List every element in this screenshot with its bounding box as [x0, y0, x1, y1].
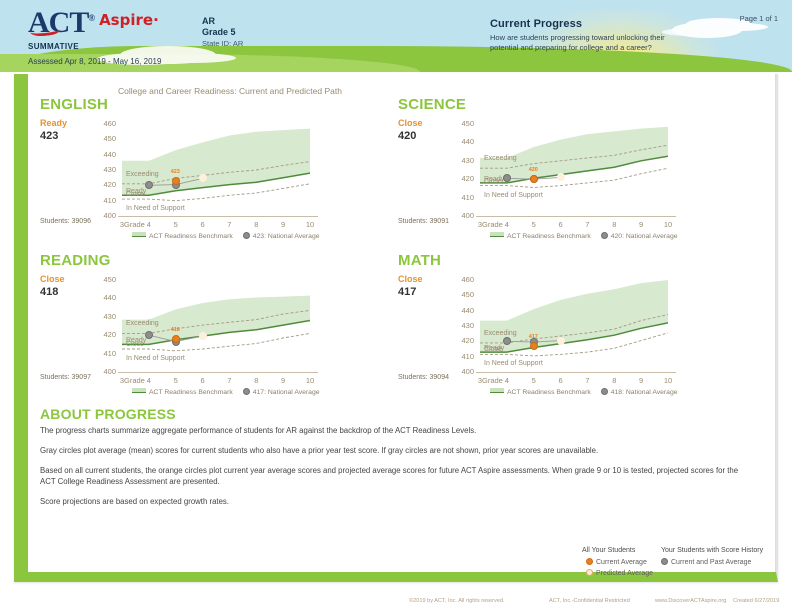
plot-area-math: ExceedingReadyCloseIn Need of Support417 [480, 280, 668, 372]
about-paragraph-1: The progress charts summarize aggregate … [40, 426, 740, 437]
orange-dot-icon [586, 558, 593, 565]
cloud-icon [672, 22, 742, 38]
band-label-in-need-of-support-science: In Need of Support [484, 192, 543, 199]
band-label-in-need-of-support-reading: In Need of Support [126, 355, 185, 362]
band-label-in-need-of-support-math: In Need of Support [484, 360, 543, 367]
x-tick-3-reading: 3 [117, 376, 127, 385]
y-tick-430-reading: 430 [94, 312, 116, 321]
plot-area-science: ExceedingReadyCloseIn Need of Support420 [480, 124, 668, 216]
benchmark-swatch-icon [132, 232, 146, 237]
x-axis-line-reading [118, 372, 318, 373]
marker-value-label-science: 420 [529, 167, 538, 173]
org-info: AR Grade 5 State ID: AR [202, 16, 243, 49]
chart-legend-math: ACT Readiness Benchmark418: National Ave… [490, 388, 678, 396]
x-tick-7-science: 7 [582, 220, 592, 229]
x-axis-line-math [476, 372, 676, 373]
chart-panel-science: SCIENCEClose420Students: 39091ExceedingR… [398, 96, 698, 246]
score-value-reading: 418 [40, 286, 58, 298]
y-tick-400-english: 400 [94, 211, 116, 220]
legend-current-average: Current Average [586, 558, 647, 566]
act-aspire-logo: ACT®Aspire· [28, 8, 159, 38]
legend-national-average-label-reading: 417: National Average [253, 389, 320, 396]
marker-current-avg-reading [172, 335, 180, 343]
x-tick-5-math: 5 [529, 376, 539, 385]
y-tick-430-science: 430 [452, 156, 474, 165]
about-progress-heading: ABOUT PROGRESS [40, 406, 176, 422]
benchmark-swatch-icon [490, 388, 504, 393]
x-tick-8-english: 8 [251, 220, 261, 229]
marker-predicted-avg-science [557, 173, 565, 181]
legend-current-and-past-average: Current and Past Average [661, 558, 751, 566]
x-tick-4-science: 4 [502, 220, 512, 229]
plot-area-english: ExceedingReadyCloseIn Need of Support423 [122, 124, 310, 216]
sheet-title: College and Career Readiness: Current an… [118, 86, 342, 96]
open-circle-icon [586, 569, 593, 576]
y-tick-400-science: 400 [452, 211, 474, 220]
chart-legend-reading: ACT Readiness Benchmark417: National Ave… [132, 388, 320, 396]
band-label-exceeding-reading: Exceeding [126, 320, 159, 327]
y-tick-420-science: 420 [452, 174, 474, 183]
x-axis-line-science [476, 216, 676, 217]
score-value-math: 417 [398, 286, 416, 298]
national-average-icon [601, 388, 608, 395]
x-tick-10-math: 10 [663, 376, 673, 385]
legend-national-average-label-science: 420: National Average [611, 233, 678, 240]
band-label-close-science: Close [484, 178, 502, 185]
x-tick-9-english: 9 [278, 220, 288, 229]
national-average-icon [243, 388, 250, 395]
marker-current-avg-math [530, 342, 538, 350]
y-tick-430-math: 430 [452, 321, 474, 330]
legend-benchmark-label-science: ACT Readiness Benchmark [507, 233, 591, 240]
x-tick-10-science: 10 [663, 220, 673, 229]
x-tick-8-science: 8 [609, 220, 619, 229]
legend-benchmark-label-math: ACT Readiness Benchmark [507, 389, 591, 396]
plot-area-reading: ExceedingReadyCloseIn Need of Support418 [122, 280, 310, 372]
org-name: AR [202, 16, 243, 27]
chart-legend-english: ACT Readiness Benchmark423: National Ave… [132, 232, 320, 240]
y-tick-410-science: 410 [452, 193, 474, 202]
band-label-close-english: Close [126, 191, 144, 198]
x-tick-3-english: 3 [117, 220, 127, 229]
current-progress-subtitle: How are students progressing toward unlo… [490, 33, 680, 52]
y-tick-420-math: 420 [452, 336, 474, 345]
subject-title-reading: READING [40, 252, 111, 269]
students-count-reading: Students: 39097 [40, 374, 91, 381]
national-average-icon [601, 232, 608, 239]
marker-predicted-avg-math [557, 337, 565, 345]
marker-current-avg-english [172, 177, 180, 185]
band-label-exceeding-science: Exceeding [484, 155, 517, 162]
y-tick-420-english: 420 [94, 180, 116, 189]
x-tick-9-reading: 9 [278, 376, 288, 385]
x-tick-5-english: 5 [171, 220, 181, 229]
y-tick-410-math: 410 [452, 352, 474, 361]
benchmark-swatch-icon [132, 388, 146, 393]
national-average-icon [243, 232, 250, 239]
legend-header-all-students: All Your Students [582, 547, 635, 554]
y-tick-400-reading: 400 [94, 367, 116, 376]
y-tick-400-math: 400 [452, 367, 474, 376]
band-label-exceeding-english: Exceeding [126, 171, 159, 178]
score-value-english: 423 [40, 130, 58, 142]
footer-created-date: Created 6/27/2019 [733, 598, 779, 604]
state-id: State ID: AR [202, 38, 243, 49]
x-tick-6-reading: 6 [198, 376, 208, 385]
y-tick-440-reading: 440 [94, 293, 116, 302]
x-tick-9-math: 9 [636, 376, 646, 385]
band-label-close-reading: Close [126, 341, 144, 348]
chart-panel-math: MATHClose417Students: 39094ExceedingRead… [398, 252, 698, 402]
y-tick-450-science: 450 [452, 119, 474, 128]
y-tick-440-english: 440 [94, 150, 116, 159]
readiness-level-english: Ready [40, 118, 67, 128]
plot-svg-science [480, 124, 668, 216]
legend-benchmark-label-reading: ACT Readiness Benchmark [149, 389, 233, 396]
y-tick-460-english: 460 [94, 119, 116, 128]
students-count-math: Students: 39094 [398, 374, 449, 381]
marker-predicted-avg-english [199, 174, 207, 182]
marker-value-label-english: 423 [171, 169, 180, 175]
page-footer: ©2019 by ACT, Inc. All rights reserved. … [0, 596, 792, 612]
y-tick-420-reading: 420 [94, 330, 116, 339]
x-axis-title-english: Grade [124, 220, 145, 229]
x-tick-8-reading: 8 [251, 376, 261, 385]
chart-panel-english: ENGLISHReady423Students: 39096ExceedingR… [40, 96, 340, 246]
about-paragraph-4: Score projections are based on expected … [40, 497, 740, 508]
marker-value-label-reading: 418 [171, 327, 180, 333]
students-count-science: Students: 39091 [398, 218, 449, 225]
x-tick-10-reading: 10 [305, 376, 315, 385]
about-paragraph-2: Gray circles plot average (mean) scores … [40, 446, 740, 457]
x-tick-7-math: 7 [582, 376, 592, 385]
chart-panel-reading: READINGClose418Students: 39097ExceedingR… [40, 252, 340, 402]
x-tick-4-math: 4 [502, 376, 512, 385]
y-tick-450-reading: 450 [94, 275, 116, 284]
plot-svg-math [480, 280, 668, 372]
y-tick-440-science: 440 [452, 137, 474, 146]
x-tick-6-english: 6 [198, 220, 208, 229]
band-label-in-need-of-support-english: In Need of Support [126, 205, 185, 212]
x-tick-6-math: 6 [556, 376, 566, 385]
chart-legend-science: ACT Readiness Benchmark420: National Ave… [490, 232, 678, 240]
about-paragraph-3: Based on all current students, the orang… [40, 466, 746, 487]
marker-value-label-math: 417 [529, 334, 538, 340]
subject-title-science: SCIENCE [398, 96, 466, 113]
x-tick-3-science: 3 [475, 220, 485, 229]
students-count-english: Students: 39096 [40, 218, 91, 225]
x-tick-10-english: 10 [305, 220, 315, 229]
benchmark-swatch-icon [490, 232, 504, 237]
score-value-science: 420 [398, 130, 416, 142]
x-axis-title-math: Grade [482, 376, 503, 385]
legend-predicted-average: Predicted Average [586, 569, 653, 577]
assessed-window: Assessed Apr 8, 2019 - May 16, 2019 [28, 57, 161, 66]
x-tick-7-reading: 7 [224, 376, 234, 385]
readiness-level-math: Close [398, 274, 423, 284]
x-tick-5-science: 5 [529, 220, 539, 229]
x-tick-7-english: 7 [224, 220, 234, 229]
aspire-logo-text: Aspire· [99, 11, 159, 29]
readiness-level-reading: Close [40, 274, 65, 284]
legend-national-average-label-english: 423: National Average [253, 233, 320, 240]
marker-predicted-avg-reading [199, 332, 207, 340]
footer-copyright: ©2019 by ACT, Inc. All rights reserved. [409, 598, 505, 604]
x-tick-8-math: 8 [609, 376, 619, 385]
subject-title-english: ENGLISH [40, 96, 108, 113]
grade-level: Grade 5 [202, 27, 243, 38]
y-tick-440-math: 440 [452, 306, 474, 315]
readiness-level-science: Close [398, 118, 423, 128]
current-progress-title: Current Progress [490, 18, 680, 30]
y-tick-410-english: 410 [94, 196, 116, 205]
x-tick-3-math: 3 [475, 376, 485, 385]
y-tick-460-math: 460 [452, 275, 474, 284]
legend-national-average-label-math: 418: National Average [611, 389, 678, 396]
act-logo-text: ACT® [28, 8, 94, 38]
x-tick-4-english: 4 [144, 220, 154, 229]
y-tick-450-math: 450 [452, 290, 474, 299]
band-label-exceeding-math: Exceeding [484, 330, 517, 337]
band-label-close-math: Close [484, 346, 502, 353]
page-header: ACT®Aspire· SUMMATIVE Assessed Apr 8, 20… [0, 0, 792, 72]
legend-benchmark-label-english: ACT Readiness Benchmark [149, 233, 233, 240]
footer-website: www.DiscoverACTAspire.org [655, 598, 726, 604]
marker-current-avg-science [530, 175, 538, 183]
legend-header-score-history: Your Students with Score History [661, 547, 763, 554]
gray-dot-icon [661, 558, 668, 565]
x-axis-line-english [118, 216, 318, 217]
x-axis-title-reading: Grade [124, 376, 145, 385]
x-tick-6-science: 6 [556, 220, 566, 229]
summative-label: SUMMATIVE [28, 42, 79, 51]
x-axis-title-science: Grade [482, 220, 503, 229]
subject-title-math: MATH [398, 252, 441, 269]
x-tick-9-science: 9 [636, 220, 646, 229]
current-progress-block: Current Progress How are students progre… [490, 18, 680, 52]
page-number: Page 1 of 1 [740, 14, 778, 23]
y-tick-450-english: 450 [94, 134, 116, 143]
footer-confidential: ACT, Inc.-Confidential Restricted [549, 598, 630, 604]
y-tick-430-english: 430 [94, 165, 116, 174]
x-tick-5-reading: 5 [171, 376, 181, 385]
x-tick-4-reading: 4 [144, 376, 154, 385]
y-tick-410-reading: 410 [94, 349, 116, 358]
